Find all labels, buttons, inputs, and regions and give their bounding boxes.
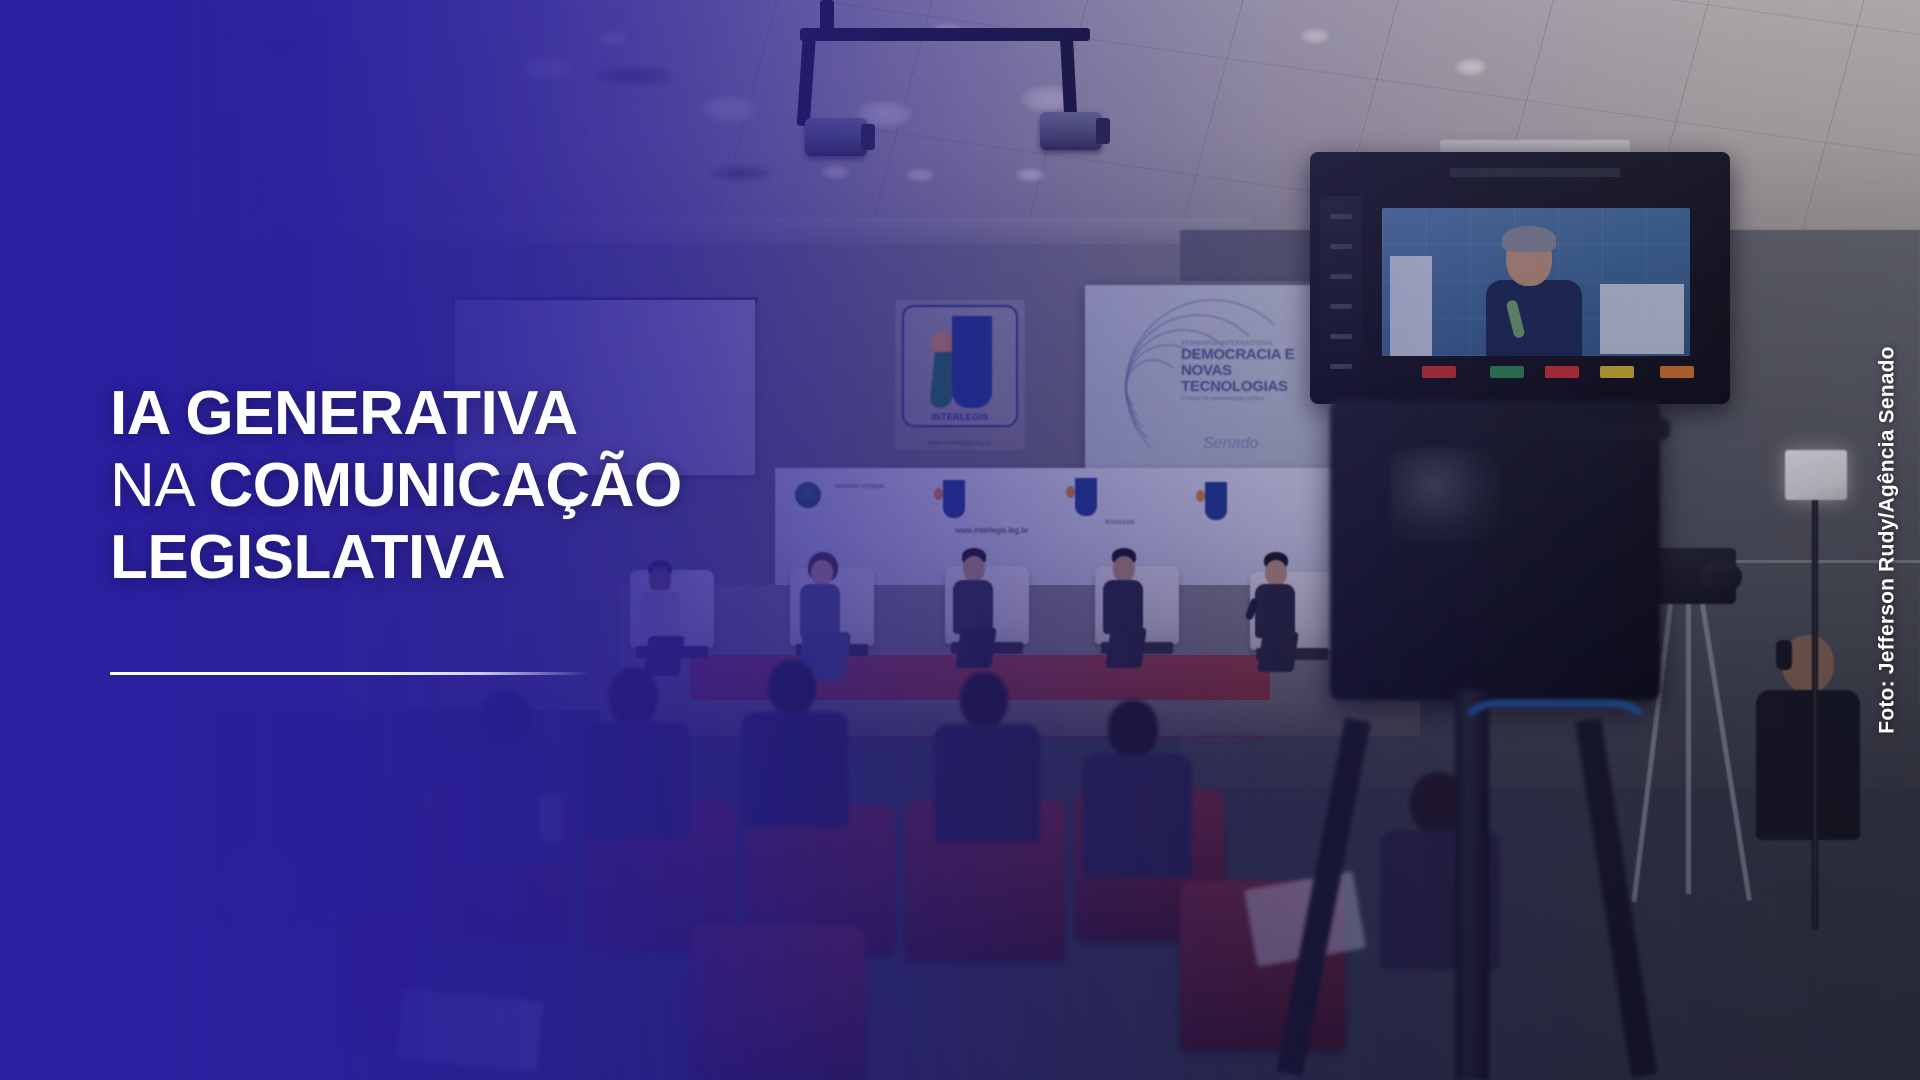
- photo-credit: Foto: Jefferson Rudy/Agência Senado: [1868, 0, 1908, 1080]
- camera-body: [1330, 400, 1660, 700]
- camera-indicator-button[interactable]: [1490, 366, 1524, 378]
- backdrop-caption-right: INTERLEGIS: [1105, 520, 1135, 526]
- camera-indicator-button[interactable]: [1545, 366, 1579, 378]
- truss-beam: [800, 28, 1090, 41]
- monitor-scene-left-panel: [1390, 256, 1432, 356]
- camera-key[interactable]: [1330, 274, 1352, 279]
- camera-indicator-button[interactable]: [1422, 366, 1456, 378]
- title-line-2-light: NA: [110, 451, 208, 520]
- title-line-3: LEGISLATIVA: [110, 522, 850, 594]
- headphones-icon: [1776, 640, 1792, 670]
- camera-indicator-button[interactable]: [1600, 366, 1634, 378]
- logo-blue-stroke: [952, 316, 992, 408]
- title-line-2-bold: COMUNICAÇÃO: [208, 451, 681, 520]
- downlight: [905, 168, 935, 182]
- logo-wordmark: INTERLEGIS: [905, 412, 1015, 422]
- camera-cable: [1455, 700, 1655, 1080]
- camera-handle: [1550, 418, 1670, 440]
- stage-spotlight: [1040, 112, 1102, 150]
- studio-light-panel: [1785, 450, 1847, 500]
- ceiling-vent: [710, 165, 772, 181]
- downlight: [1455, 58, 1487, 76]
- tripod-leg: [1686, 604, 1691, 894]
- monitor-scene-right-panel: [1600, 284, 1684, 354]
- title-line-1: IA GENERATIVA: [110, 378, 850, 450]
- event-title: DEMOCRACIA E NOVAS TECNOLOGIAS: [1181, 347, 1331, 394]
- camera-monitor-screen: [1382, 208, 1690, 356]
- camera-key[interactable]: [1330, 214, 1352, 219]
- water-bottle-icon: [540, 795, 562, 841]
- stage-spotlight: [805, 118, 867, 156]
- tripod-leg: [195, 725, 226, 925]
- ceiling-vent: [595, 66, 673, 86]
- event-screen-text: SEMINÁRIO INTERNACIONAL DEMOCRACIA E NOV…: [1181, 341, 1331, 402]
- downlight: [700, 95, 758, 123]
- camera-key[interactable]: [1330, 244, 1352, 249]
- downlight: [820, 165, 850, 179]
- event-subtitle: O futuro da representação política: [1181, 397, 1331, 403]
- camera-lens-icon: [1700, 560, 1742, 594]
- ceiling-vent: [255, 40, 309, 54]
- downlight: [1300, 28, 1330, 44]
- title-line-2: NA COMUNICAÇÃO: [110, 450, 850, 522]
- downlight: [520, 55, 574, 81]
- downlight: [1015, 168, 1045, 182]
- camera-indicator-button[interactable]: [1660, 366, 1694, 378]
- backdrop-logo-icon: [1205, 482, 1227, 520]
- camera-lens-icon: [1390, 448, 1500, 544]
- title-underline-rule: [110, 672, 590, 675]
- camera-key[interactable]: [1330, 364, 1352, 369]
- backdrop-logo-icon: [943, 480, 965, 518]
- printed-document: [397, 989, 543, 1071]
- backdrop-logo-icon: [1075, 478, 1097, 516]
- wall-soffit: [0, 218, 1250, 244]
- camera-brand-label: [1450, 168, 1620, 177]
- monitor-subject-body: [1486, 280, 1582, 356]
- event-kicker: SEMINÁRIO INTERNACIONAL: [1181, 341, 1331, 347]
- event-hero-banner: SEMINÁRIO INTERNACIONAL DEMOCRACIA E NOV…: [0, 0, 1920, 1080]
- downlight: [598, 30, 628, 46]
- page-title: IA GENERATIVA NA COMUNICAÇÃO LEGISLATIVA: [110, 378, 850, 594]
- monitor-subject-hair: [1502, 226, 1556, 252]
- light-stand: [1812, 500, 1818, 930]
- backdrop-url: www.interlegis.leg.br: [955, 526, 1028, 535]
- event-screen-logo: Senado: [1203, 435, 1258, 453]
- photo-credit-text: Foto: Jefferson Rudy/Agência Senado: [1876, 346, 1900, 733]
- logo-url: www.interlegis.leg.br: [895, 440, 1025, 447]
- camera-key[interactable]: [1330, 304, 1352, 309]
- camera-key[interactable]: [1330, 334, 1352, 339]
